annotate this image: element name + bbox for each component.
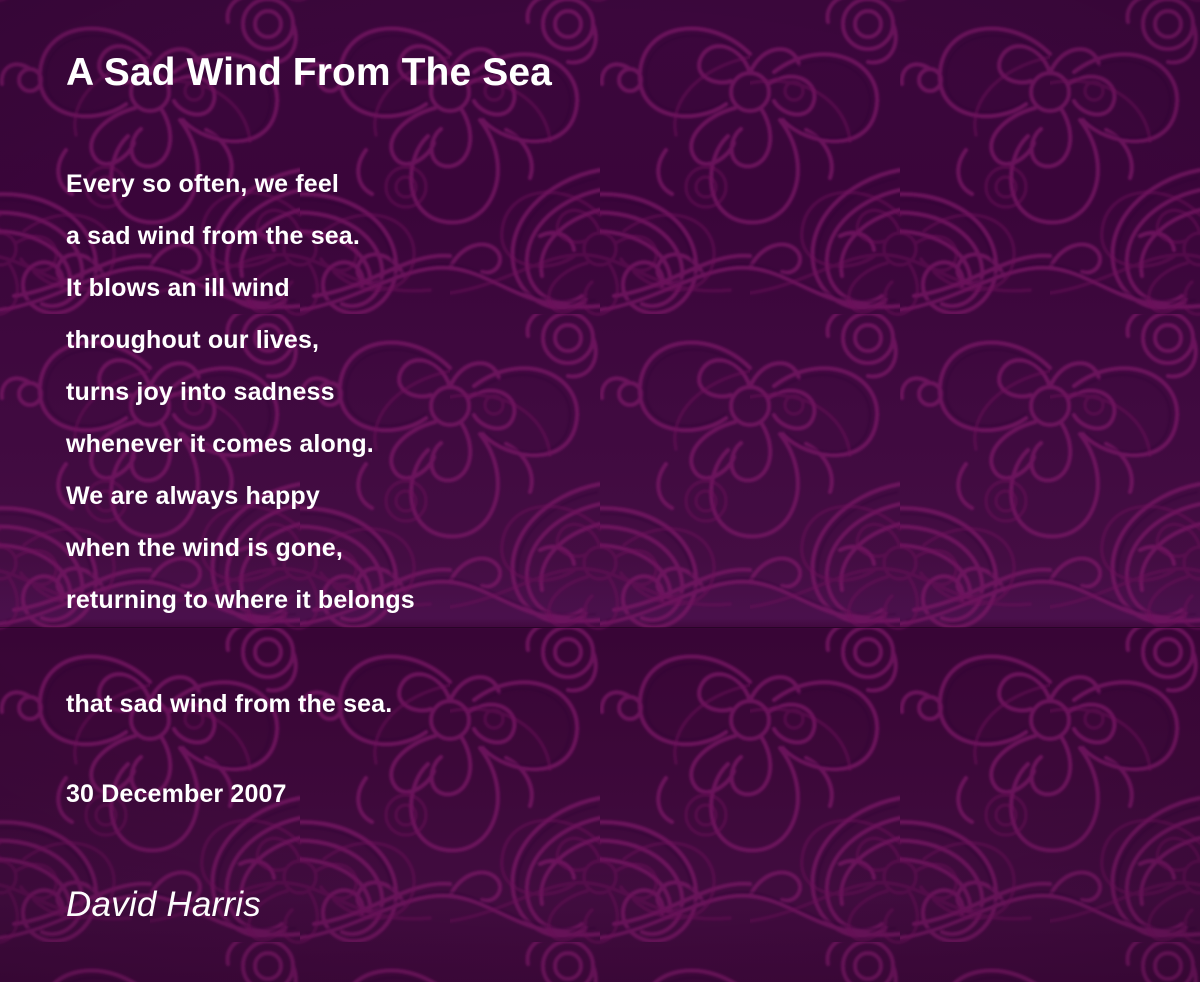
poem-line: when the wind is gone, [66,522,415,574]
poem-line: turns joy into sadness [66,366,415,418]
poem-line: whenever it comes along. [66,418,415,470]
poem-line: We are always happy [66,470,415,522]
poem-line: a sad wind from the sea. [66,210,415,262]
poem-title: A Sad Wind From The Sea [66,52,552,95]
poem-line: returning to where it belongs [66,574,415,626]
poem-line-blank [66,626,415,678]
poem-author: David Harris [66,885,261,925]
poem-line: that sad wind from the sea. [66,678,415,730]
poem-line: It blows an ill wind [66,262,415,314]
poem-card: A Sad Wind From The Sea Every so often, … [0,0,1200,982]
poem-date: 30 December 2007 [66,780,287,809]
poem-line: Every so often, we feel [66,158,415,210]
poem-line: throughout our lives, [66,314,415,366]
poem-body: Every so often, we feela sad wind from t… [66,158,415,730]
